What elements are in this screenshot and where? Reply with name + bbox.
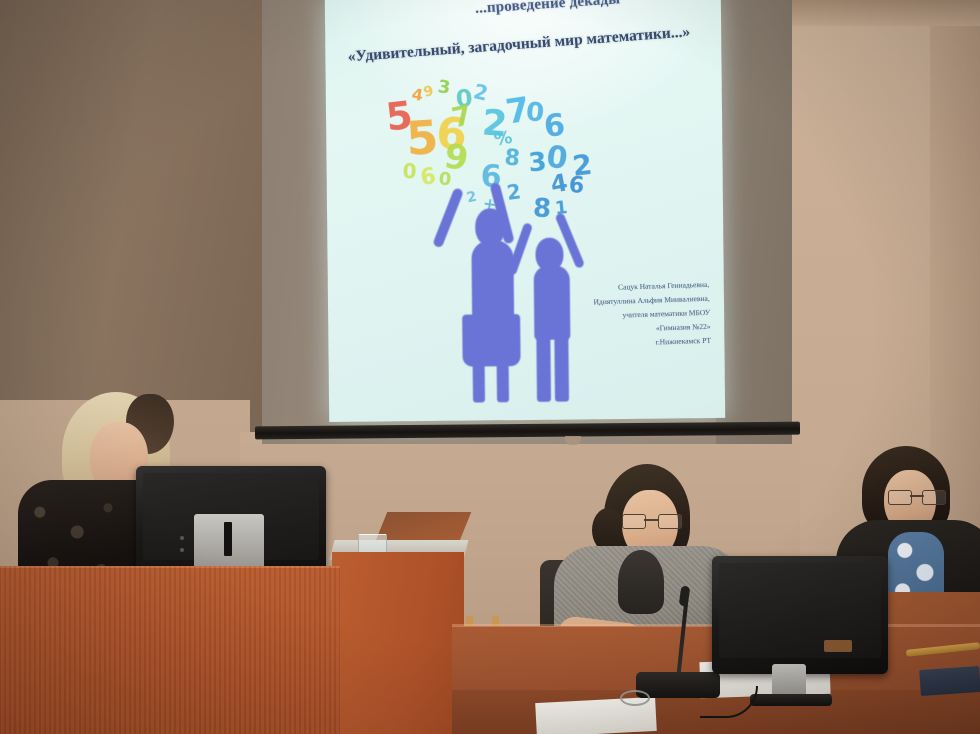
photograph-scene: ...проведение декады «Удивительный, зага…	[0, 0, 980, 734]
lectern	[332, 552, 464, 734]
slide-title-partial: ...проведение декады	[475, 0, 726, 18]
keyring	[620, 690, 650, 706]
slide-subtitle: «Удивительный, загадочный мир математики…	[347, 19, 725, 66]
podium-monitor-led	[180, 536, 184, 540]
table-monitor-foot	[750, 694, 832, 706]
slide-number-glyph: 0	[402, 161, 417, 182]
woman-center-glasses	[622, 514, 680, 528]
slide-number-glyph: 2	[472, 81, 490, 104]
projector-screen-hook	[565, 436, 581, 445]
slide-number-glyph: 8	[503, 147, 520, 170]
slide-number-glyph: 6	[543, 111, 567, 143]
slide-author-credits: Сацук Наталья Геннадьевна,Идиятуллина Ал…	[489, 278, 711, 354]
podium-front-panel	[0, 566, 340, 734]
table-monitor-label	[824, 640, 852, 652]
slide-number-glyph: 9	[422, 84, 435, 100]
notebook	[919, 666, 980, 696]
woman-right-glasses	[888, 490, 942, 504]
podium-monitor-led-2	[180, 548, 184, 552]
table-monitor	[712, 556, 888, 674]
woman-center-blouse	[618, 550, 664, 614]
projector-screen-border-right	[716, 0, 792, 444]
ceiling-shadow	[790, 0, 980, 26]
slide-number-glyph: 3	[437, 78, 452, 97]
projected-slide: ...проведение декады «Удивительный, зага…	[325, 0, 725, 422]
podium-monitor	[136, 466, 326, 576]
podium-monitor-vesa-slot	[224, 522, 232, 556]
table-monitor-back-panel	[719, 563, 881, 658]
